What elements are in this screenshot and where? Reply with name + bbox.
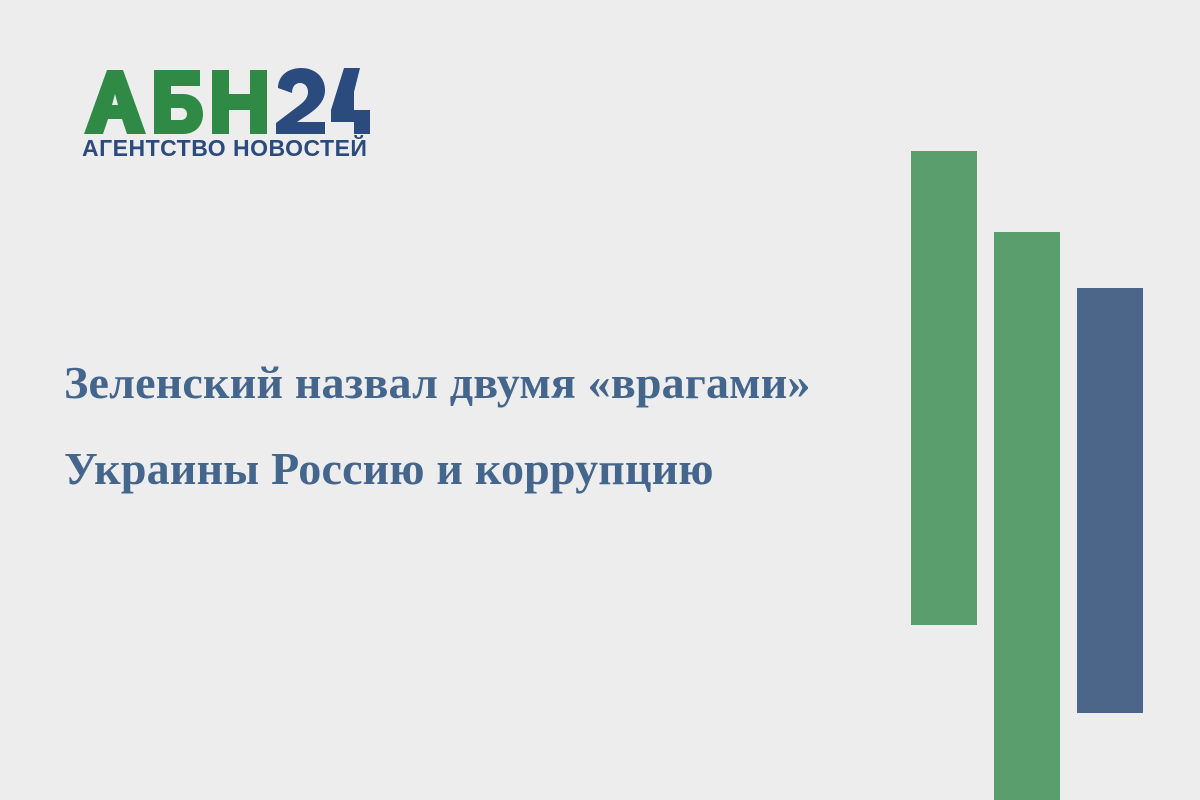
page-title: Зеленский назвал двумя «врагами» Украины…	[64, 340, 864, 512]
news-card: АГЕНТСТВО НОВОСТЕЙ Зеленский назвал двум…	[0, 0, 1200, 800]
decorative-bar-3	[1077, 288, 1143, 713]
logo-wordmark-green	[84, 70, 267, 134]
logo-tagline: АГЕНТСТВО НОВОСТЕЙ	[82, 134, 367, 160]
logo-wordmark-number	[276, 68, 370, 134]
decorative-bar-1	[911, 151, 977, 625]
decorative-bar-2	[994, 232, 1060, 800]
abn24-logo[interactable]: АГЕНТСТВО НОВОСТЕЙ	[82, 62, 372, 160]
